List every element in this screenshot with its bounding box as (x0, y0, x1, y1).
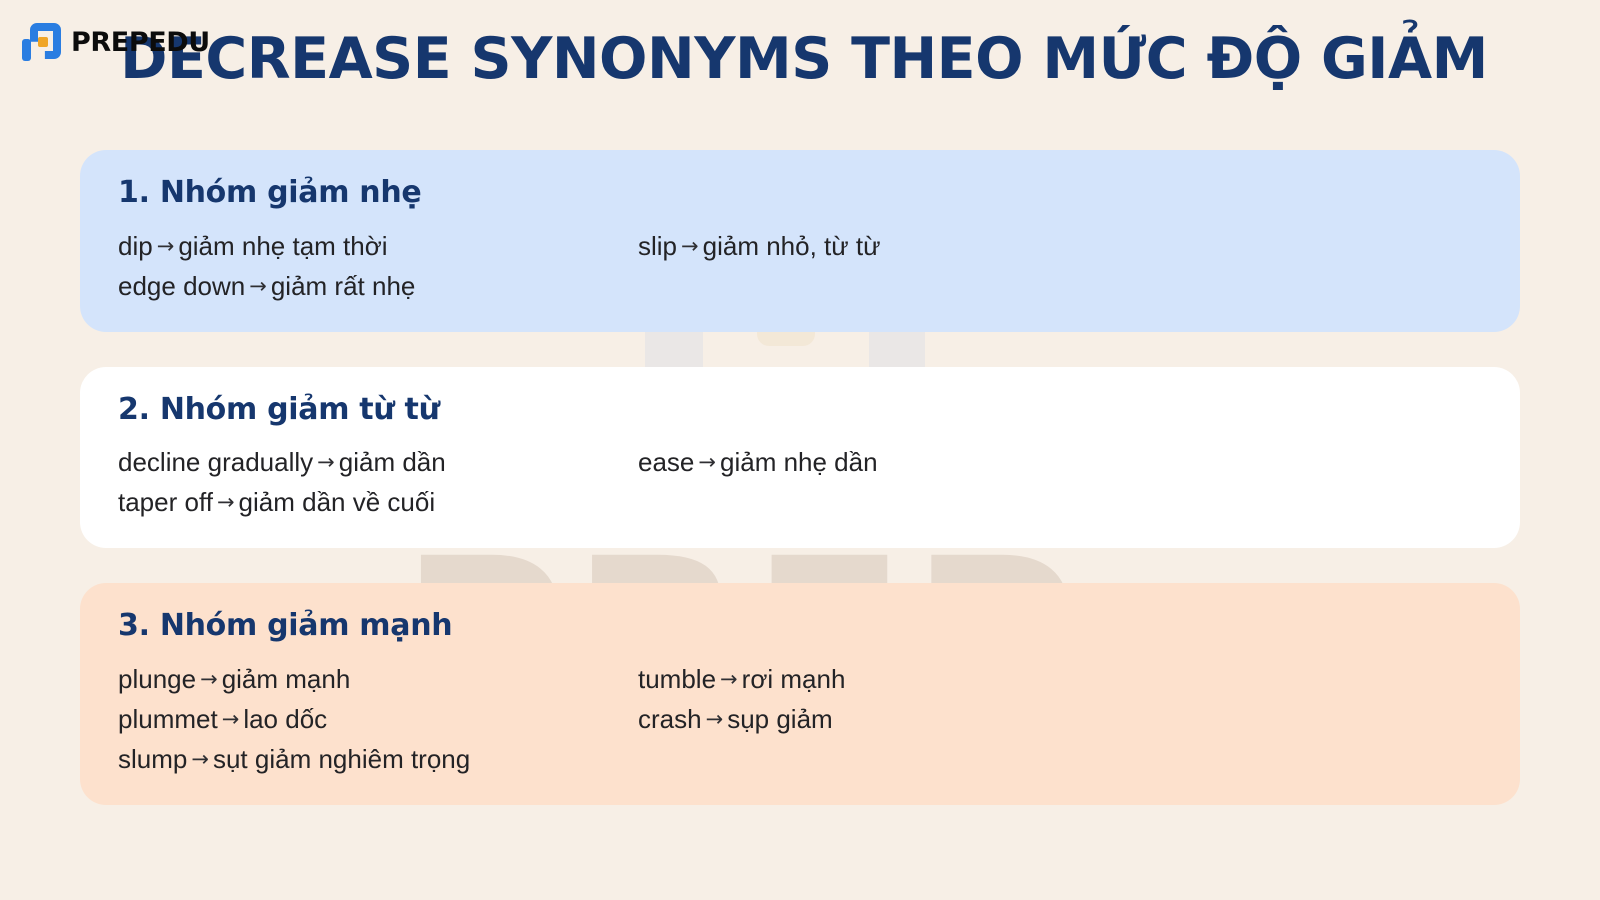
arrow-icon: → (716, 667, 742, 691)
arrow-icon: → (245, 274, 271, 298)
synonym-term: slip (638, 231, 677, 261)
card-group-3: 3. Nhóm giảm mạnh plunge→giảm mạnh plumm… (80, 583, 1520, 805)
synonym-entry: crash→sụp giảm (638, 699, 1482, 739)
card-column-right: tumble→rơi mạnh crash→sụp giảm (638, 659, 1482, 739)
synonym-term: tumble (638, 664, 716, 694)
arrow-icon: → (677, 234, 703, 258)
synonym-meaning: giảm dần về cuối (239, 487, 436, 517)
card-group-1: 1. Nhóm giảm nhẹ dip→giảm nhẹ tạm thời e… (80, 150, 1520, 332)
card-column-right: slip→giảm nhỏ, từ từ (638, 226, 1482, 266)
card-column-left: decline gradually→giảm dần taper off→giả… (118, 442, 638, 522)
card-column-right: ease→giảm nhẹ dần (638, 442, 1482, 482)
arrow-icon: → (187, 747, 213, 771)
card-columns: plunge→giảm mạnh plummet→lao dốc slump→s… (118, 659, 1482, 779)
arrow-icon: → (218, 707, 244, 731)
synonym-term: crash (638, 704, 702, 734)
card-title: 2. Nhóm giảm từ từ (118, 391, 1482, 429)
arrow-icon: → (694, 450, 720, 474)
synonym-entry: taper off→giảm dần về cuối (118, 482, 638, 522)
arrow-icon: → (153, 234, 179, 258)
synonym-meaning: giảm dần (339, 447, 446, 477)
synonym-meaning: lao dốc (243, 704, 327, 734)
synonym-term: dip (118, 231, 153, 261)
synonym-meaning: giảm nhẹ dần (720, 447, 878, 477)
card-list: 1. Nhóm giảm nhẹ dip→giảm nhẹ tạm thời e… (80, 150, 1520, 805)
synonym-meaning: giảm nhẹ tạm thời (178, 231, 387, 261)
synonym-entry: tumble→rơi mạnh (638, 659, 1482, 699)
infographic-page: PREP PREPEDU DECREASE SYNONYMS THEO MỨC … (0, 0, 1600, 900)
card-group-2: 2. Nhóm giảm từ từ decline gradually→giả… (80, 367, 1520, 549)
synonym-entry: edge down→giảm rất nhẹ (118, 266, 638, 306)
card-title: 3. Nhóm giảm mạnh (118, 607, 1482, 645)
synonym-term: taper off (118, 487, 213, 517)
card-columns: decline gradually→giảm dần taper off→giả… (118, 442, 1482, 522)
arrow-icon: → (213, 490, 239, 514)
arrow-icon: → (702, 707, 728, 731)
arrow-icon: → (196, 667, 222, 691)
synonym-entry: plummet→lao dốc (118, 699, 638, 739)
synonym-entry: plunge→giảm mạnh (118, 659, 638, 699)
synonym-meaning: giảm nhỏ, từ từ (703, 231, 881, 261)
synonym-term: ease (638, 447, 694, 477)
synonym-meaning: sụp giảm (727, 704, 833, 734)
logo-bar-shape (22, 39, 31, 61)
synonym-term: slump (118, 744, 187, 774)
arrow-icon: → (313, 450, 339, 474)
synonym-term: edge down (118, 271, 245, 301)
page-title: DECREASE SYNONYMS THEO MỨC ĐỘ GIẢM (0, 29, 1600, 91)
synonym-meaning: rơi mạnh (742, 664, 846, 694)
synonym-entry: dip→giảm nhẹ tạm thời (118, 226, 638, 266)
synonym-meaning: giảm mạnh (222, 664, 351, 694)
logo-dot-shape (38, 37, 48, 47)
synonym-term: plunge (118, 664, 196, 694)
brand-logo: PREPEDU (22, 22, 210, 62)
card-column-left: plunge→giảm mạnh plummet→lao dốc slump→s… (118, 659, 638, 779)
synonym-entry: decline gradually→giảm dần (118, 442, 638, 482)
synonym-term: decline gradually (118, 447, 313, 477)
synonym-entry: slump→sụt giảm nghiêm trọng (118, 739, 638, 779)
synonym-entry: ease→giảm nhẹ dần (638, 442, 1482, 482)
synonym-term: plummet (118, 704, 218, 734)
card-column-left: dip→giảm nhẹ tạm thời edge down→giảm rất… (118, 226, 638, 306)
card-title: 1. Nhóm giảm nhẹ (118, 174, 1482, 212)
synonym-entry: slip→giảm nhỏ, từ từ (638, 226, 1482, 266)
synonym-meaning: giảm rất nhẹ (271, 271, 416, 301)
brand-wordmark: PREPEDU (71, 27, 210, 58)
prep-logo-icon (22, 22, 62, 62)
synonym-meaning: sụt giảm nghiêm trọng (213, 744, 470, 774)
card-columns: dip→giảm nhẹ tạm thời edge down→giảm rất… (118, 226, 1482, 306)
